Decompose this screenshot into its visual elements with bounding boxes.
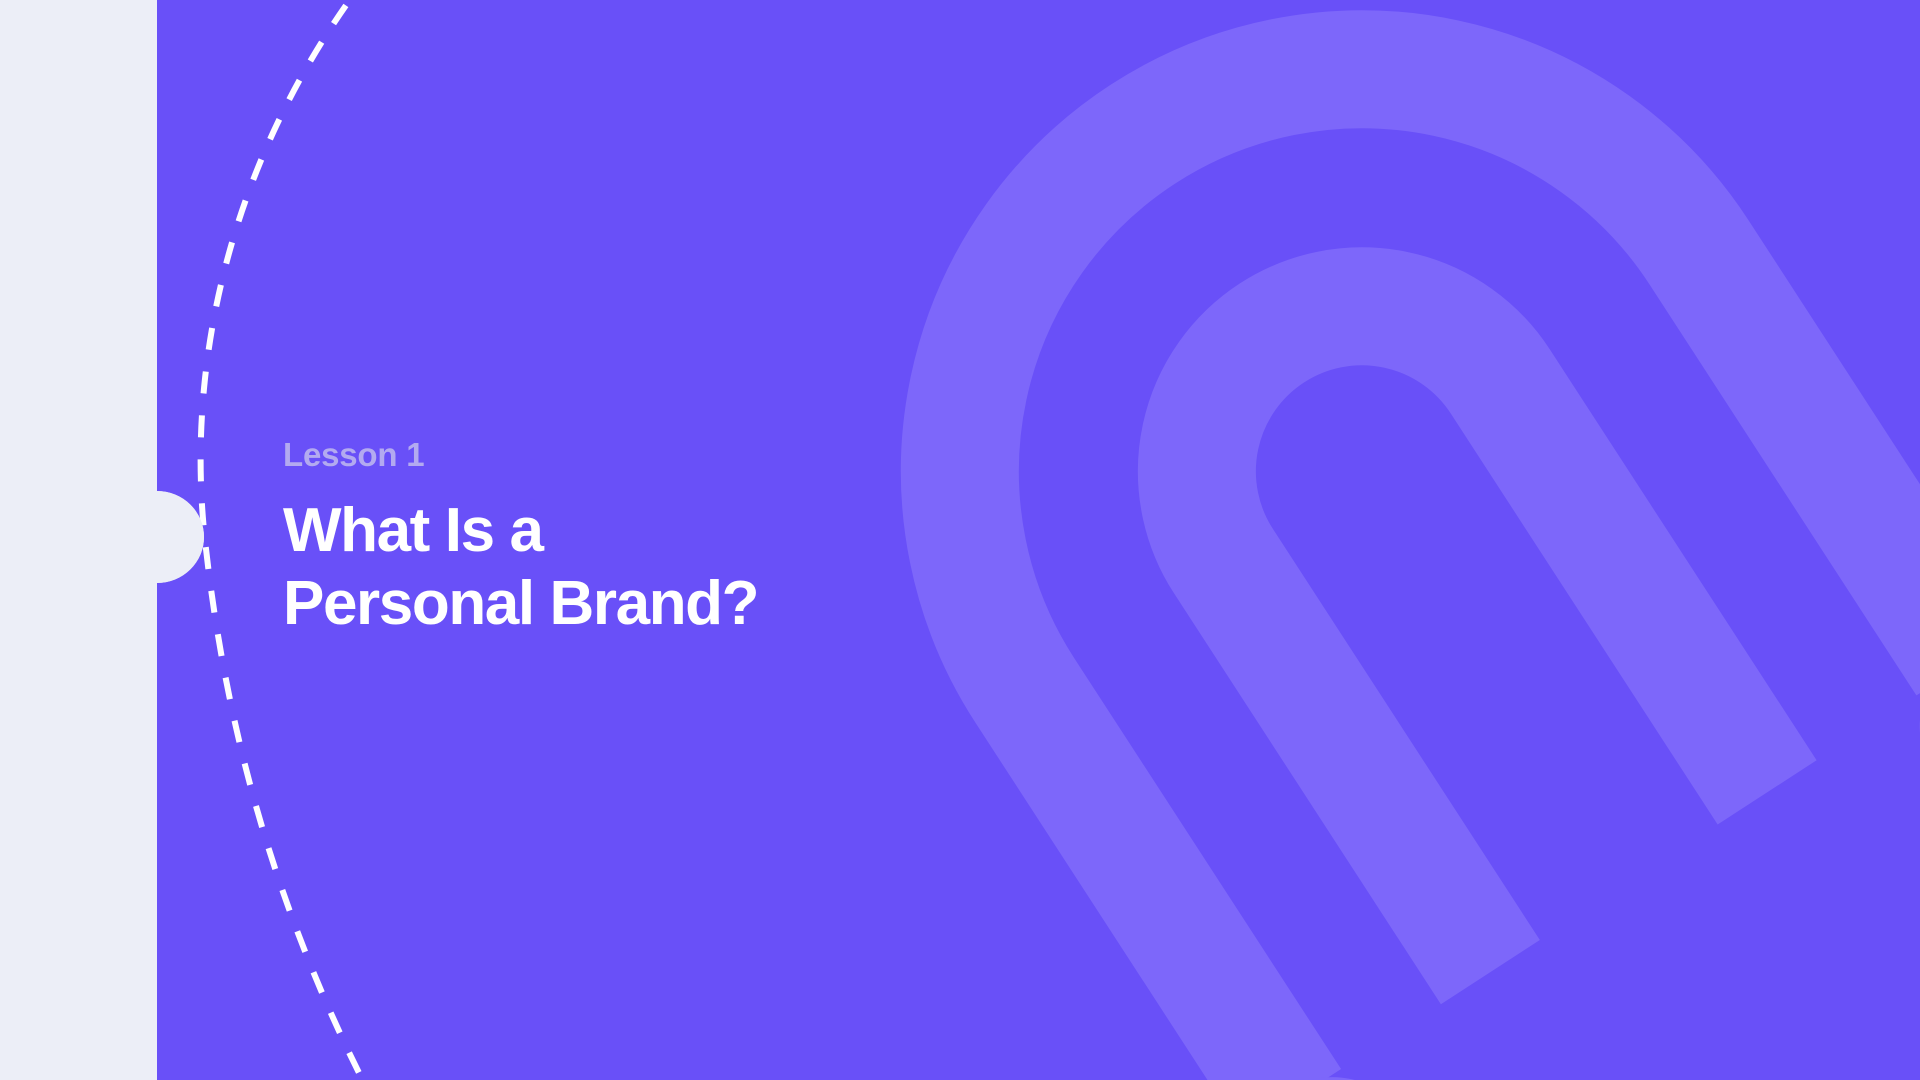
magnet-icon — [810, 0, 1920, 1080]
lesson-eyebrow: Lesson 1 — [283, 438, 758, 471]
page-title: What Is a Personal Brand? — [283, 495, 758, 640]
lesson-title-slide: Lesson 1 What Is a Personal Brand? — [0, 0, 1920, 1080]
left-rail — [0, 0, 157, 1080]
slide-text-block: Lesson 1 What Is a Personal Brand? — [283, 438, 758, 640]
